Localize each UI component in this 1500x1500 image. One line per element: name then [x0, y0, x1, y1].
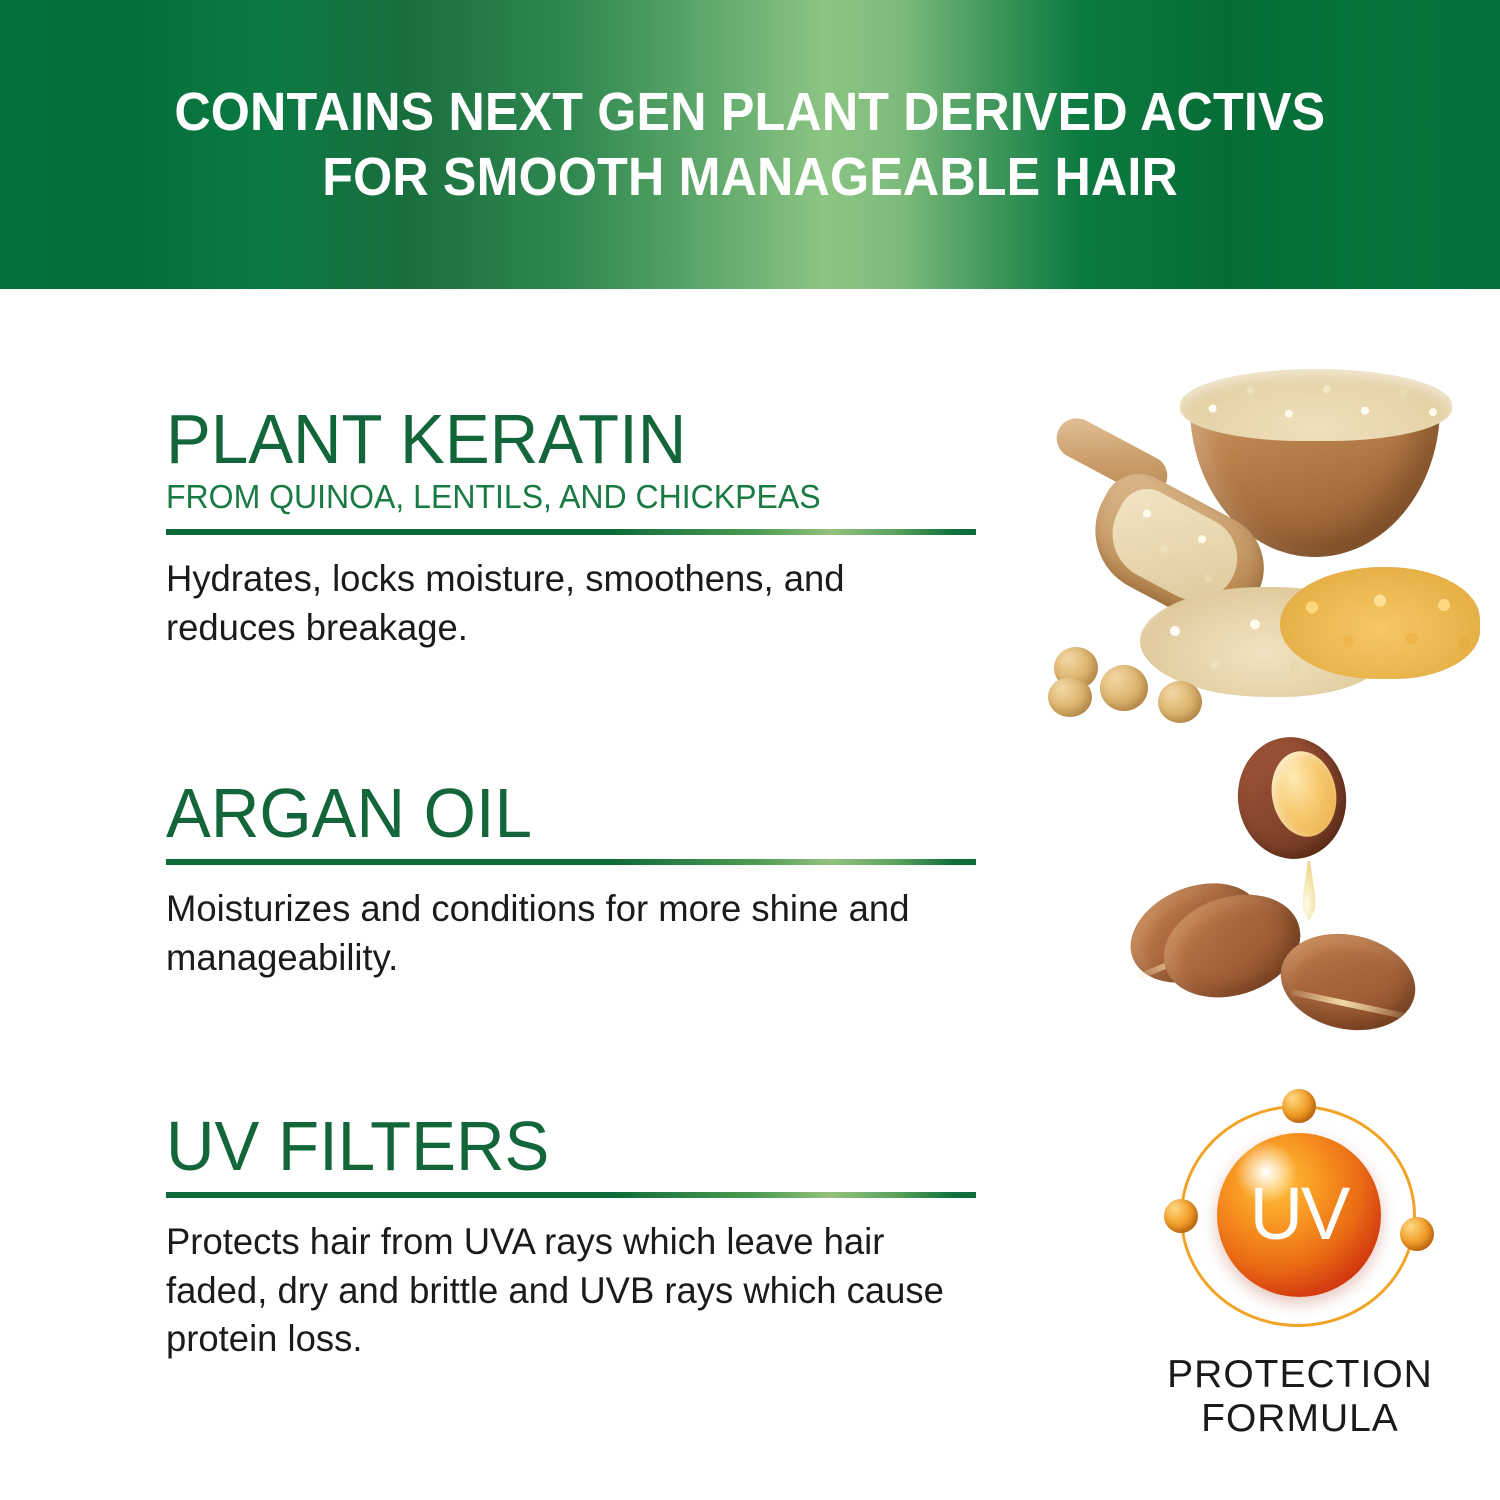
banner-headline-line-1: CONTAINS NEXT GEN PLANT DERIVED ACTIVS [174, 80, 1325, 145]
uv-sphere-label: UV [1250, 1177, 1349, 1251]
orbit-bead-icon [1164, 1199, 1198, 1233]
orbit-bead-icon [1400, 1217, 1434, 1251]
chickpea-icon [1048, 677, 1092, 717]
ingredient-section-uv-filters: UV FILTERS Protects hair from UVA rays w… [166, 1114, 976, 1364]
ingredient-section-argan-oil: ARGAN OIL Moisturizes and conditions for… [166, 781, 976, 982]
uv-caption-line-1: PROTECTION [1167, 1353, 1433, 1397]
section-description: Moisturizes and conditions for more shin… [166, 885, 964, 983]
section-title: UV FILTERS [166, 1114, 944, 1180]
section-divider [166, 859, 976, 865]
section-title: ARGAN OIL [166, 781, 944, 847]
main-content: PLANT KERATIN FROM QUINOA, LENTILS, AND … [0, 289, 1500, 1500]
argan-nuts-oil-image [1120, 729, 1450, 1059]
quinoa-grains-mound [1180, 369, 1452, 441]
section-description: Protects hair from UVA rays which leave … [166, 1218, 964, 1364]
section-divider [166, 529, 976, 535]
orbit-bead-icon [1282, 1089, 1316, 1123]
uv-atom-graphic: UV [1170, 1097, 1430, 1337]
uv-protection-formula-logo: UV PROTECTION FORMULA [1130, 1097, 1470, 1467]
section-subtitle: FROM QUINOA, LENTILS, AND CHICKPEAS [166, 478, 952, 517]
yellow-lentils-pile [1280, 567, 1480, 679]
section-description: Hydrates, locks moisture, smoothens, and… [166, 555, 964, 653]
uv-logo-caption: PROTECTION FORMULA [1167, 1353, 1433, 1440]
oil-droplet-icon [1298, 861, 1320, 921]
chickpea-icon [1100, 665, 1148, 711]
uv-caption-line-2: FORMULA [1167, 1397, 1433, 1441]
banner-headline-line-2: FOR SMOOTH MANAGEABLE HAIR [322, 145, 1178, 210]
ingredient-section-plant-keratin: PLANT KERATIN FROM QUINOA, LENTILS, AND … [166, 407, 976, 652]
header-banner: CONTAINS NEXT GEN PLANT DERIVED ACTIVS F… [0, 0, 1500, 289]
uv-sphere-icon: UV [1217, 1133, 1381, 1297]
quinoa-lentils-chickpeas-image [1030, 369, 1500, 729]
chickpea-icon [1158, 681, 1202, 723]
section-title: PLANT KERATIN [166, 407, 944, 473]
section-divider [166, 1192, 976, 1198]
